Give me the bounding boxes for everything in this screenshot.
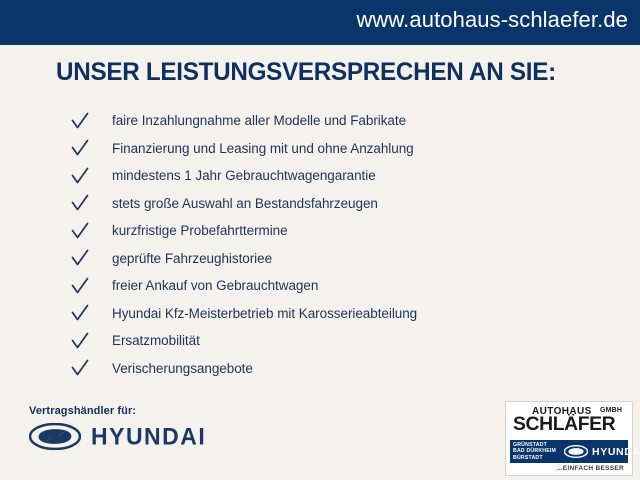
- badge-tagline: ...EINFACH BESSER: [510, 465, 628, 472]
- badge-gmbh-label: GMBH: [600, 407, 622, 414]
- check-icon: [70, 276, 90, 296]
- list-item-label: kurzfristige Probefahrttermine: [112, 223, 288, 238]
- header-bar: www.autohaus-schlaefer.de: [0, 0, 640, 45]
- list-item-label: freier Ankauf von Gebrauchtwagen: [112, 278, 318, 293]
- check-icon: [70, 221, 90, 241]
- badge-blue-bar: GRÜNSTADT BAD DÜRKHEIM BÜRSTADT HYUNDAI: [510, 440, 628, 463]
- list-item-label: mindestens 1 Jahr Gebrauchtwagengarantie: [112, 168, 376, 183]
- check-icon: [70, 166, 90, 186]
- website-url: www.autohaus-schlaefer.de: [356, 7, 628, 33]
- list-item-label: Hyundai Kfz-Meisterbetrieb mit Karosseri…: [112, 306, 417, 321]
- check-icon: [70, 138, 90, 158]
- list-item: kurzfristige Probefahrttermine: [70, 217, 570, 245]
- benefits-list: faire Inzahlungnahme aller Modelle und F…: [70, 107, 570, 382]
- hyundai-logo-lockup: HYUNDAI: [29, 423, 206, 450]
- badge-dealer-name: SCHLÄFER: [513, 414, 615, 436]
- list-item: faire Inzahlungnahme aller Modelle und F…: [70, 107, 570, 135]
- dealer-badge: SCHLÄFER AUTOHAUS GMBH GRÜNSTADT BAD DÜR…: [505, 401, 633, 476]
- promo-page: www.autohaus-schlaefer.de UNSER LEISTUNG…: [0, 0, 640, 480]
- list-item: freier Ankauf von Gebrauchtwagen: [70, 272, 570, 300]
- check-icon: [70, 111, 90, 131]
- hyundai-logo-icon: [29, 423, 81, 450]
- list-item: geprüfte Fahrzeughistoriee: [70, 245, 570, 273]
- badge-city-list: GRÜNSTADT BAD DÜRKHEIM BÜRSTADT: [513, 442, 556, 461]
- check-icon: [70, 331, 90, 351]
- list-item-label: Ersatzmobilität: [112, 333, 200, 348]
- list-item: Hyundai Kfz-Meisterbetrieb mit Karosseri…: [70, 300, 570, 328]
- list-item: Verischerungsangebote: [70, 355, 570, 383]
- check-icon: [70, 358, 90, 378]
- list-item: mindestens 1 Jahr Gebrauchtwagengarantie: [70, 162, 570, 190]
- list-item-label: Verischerungsangebote: [112, 361, 253, 376]
- list-item: Ersatzmobilität: [70, 327, 570, 355]
- check-icon: [70, 303, 90, 323]
- list-item-label: Finanzierung und Leasing mit und ohne An…: [112, 141, 414, 156]
- check-icon: [70, 248, 90, 268]
- badge-autohaus-label: AUTOHAUS: [532, 406, 592, 417]
- dealer-label: Vertragshändler für:: [29, 405, 206, 417]
- badge-heading: SCHLÄFER AUTOHAUS GMBH: [510, 405, 628, 437]
- dealer-brand-block: Vertragshändler für: HYUNDAI: [29, 405, 206, 450]
- check-icon: [70, 193, 90, 213]
- list-item: stets große Auswahl an Bestandsfahrzeuge…: [70, 190, 570, 218]
- hyundai-logo-icon: [564, 445, 588, 458]
- list-item-label: faire Inzahlungnahme aller Modelle und F…: [112, 113, 406, 128]
- badge-hyundai-wordmark: HYUNDAI: [592, 446, 640, 458]
- list-item-label: geprüfte Fahrzeughistoriee: [112, 251, 272, 266]
- page-title: UNSER LEISTUNGSVERSPRECHEN AN SIE:: [56, 58, 556, 87]
- hyundai-wordmark: HYUNDAI: [91, 422, 206, 450]
- list-item-label: stets große Auswahl an Bestandsfahrzeuge…: [112, 196, 378, 211]
- list-item: Finanzierung und Leasing mit und ohne An…: [70, 135, 570, 163]
- badge-hyundai-lockup: HYUNDAI: [564, 445, 640, 458]
